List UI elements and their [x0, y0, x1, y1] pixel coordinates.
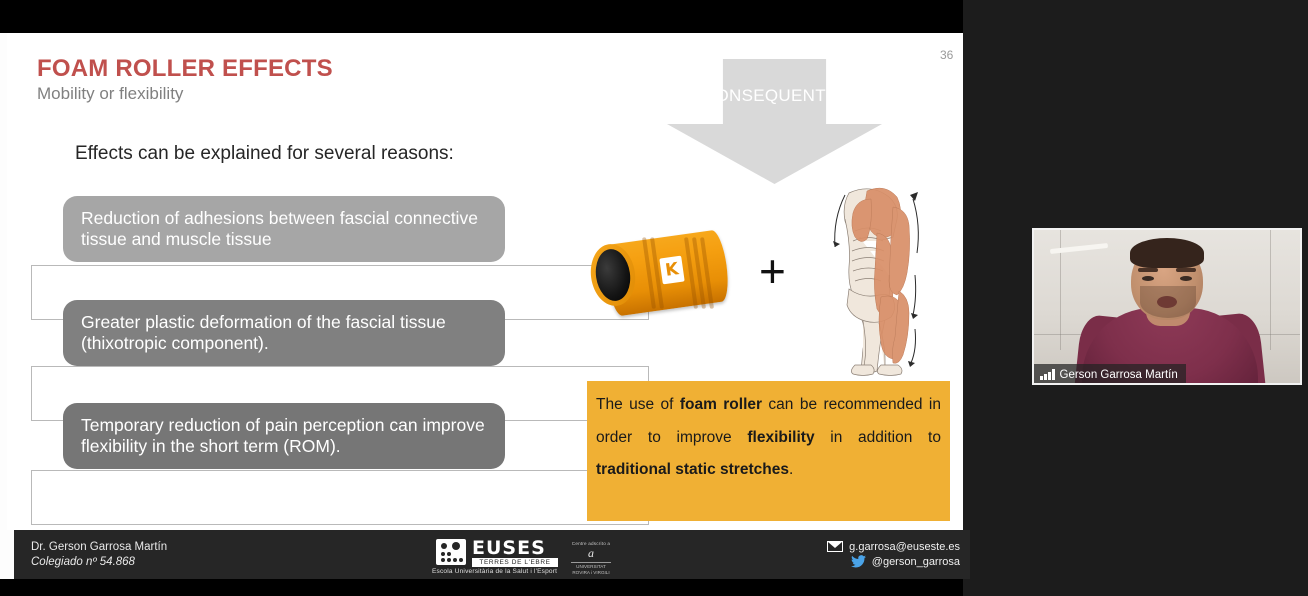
participant-name: Gerson Garrosa Martín: [1060, 369, 1178, 381]
consequently-arrow: CONSEQUENTLY: [667, 59, 882, 184]
urv-mark-icon: a: [568, 546, 614, 561]
down-arrow-icon: [667, 59, 882, 184]
reason-text-2: Greater plastic deformation of the fasci…: [81, 312, 491, 354]
urv-logo: Centre adscrito a a UNIVERSITAT ROVIRA i…: [568, 541, 614, 576]
foam-roller-image: K: [585, 231, 730, 323]
email-row: g.garrosa@euseste.es: [814, 539, 960, 554]
eye-right: [1180, 276, 1192, 281]
letterbox-bottom: [0, 579, 963, 596]
twitter-row: @gerson_garrosa: [814, 554, 960, 569]
person-mouth: [1157, 296, 1177, 308]
consequently-label: CONSEQUENTLY: [667, 86, 882, 106]
slide-footer: Dr. Gerson Garrosa Martín Colegiado nº 5…: [14, 530, 970, 579]
callout-seg-1: foam roller: [680, 396, 762, 413]
person-hair: [1130, 238, 1204, 268]
reason-text-3: Temporary reduction of pain perception c…: [81, 415, 491, 457]
slide-title: FOAM ROLLER EFFECTS: [37, 55, 333, 83]
reason-box-1: Reduction of adhesions between fascial c…: [63, 196, 505, 262]
callout-seg-4: in addition to: [815, 429, 941, 446]
footer-license: Colegiado nº 54.868: [31, 556, 135, 568]
participant-video-tile[interactable]: EUSES Gerson Garrosa Martín: [1032, 228, 1302, 385]
euses-wordmark: EUSES: [472, 537, 546, 559]
urv-divider: [571, 562, 611, 563]
presentation-slide: FOAM ROLLER EFFECTS Mobility or flexibil…: [0, 33, 963, 579]
slide-page-number: 36: [940, 48, 953, 62]
letterbox-top: [0, 0, 963, 33]
callout-box: The use of foam roller can be recommende…: [587, 381, 950, 521]
reason-text-1: Reduction of adhesions between fascial c…: [81, 208, 491, 250]
twitter-icon: [851, 555, 866, 568]
intro-text: Effects can be explained for several rea…: [75, 143, 454, 165]
envelope-icon: [827, 541, 843, 552]
slide-subtitle: Mobility or flexibility: [37, 84, 183, 104]
reason-box-3: Temporary reduction of pain perception c…: [63, 403, 505, 469]
anatomy-svg: [819, 179, 923, 377]
plus-icon: +: [759, 248, 786, 294]
eye-left: [1142, 276, 1154, 281]
callout-seg-3: flexibility: [747, 429, 814, 446]
eyebrow-left: [1138, 268, 1158, 272]
footer-email[interactable]: g.garrosa@euseste.es: [849, 541, 960, 553]
callout-seg-0: The use of: [596, 396, 680, 413]
footer-author: Dr. Gerson Garrosa Martín: [31, 541, 167, 553]
roller-brand-logo: K: [659, 256, 684, 285]
callout-seg-6: .: [789, 461, 793, 478]
euses-mark-icon: [436, 539, 466, 565]
screen-share-view: FOAM ROLLER EFFECTS Mobility or flexibil…: [0, 0, 1308, 596]
connector-rect-3: [31, 470, 649, 525]
euses-tagline: Escola Universitària de la Salut i l'Esp…: [432, 568, 557, 575]
footer-contact: g.garrosa@euseste.es @gerson_garrosa: [814, 539, 960, 569]
urv-bottom-text: UNIVERSITAT ROVIRA i VIRGILI: [568, 564, 614, 576]
eyebrow-right: [1176, 268, 1196, 272]
footer-twitter[interactable]: @gerson_garrosa: [872, 556, 960, 568]
euses-logo: EUSES TERRES DE L'EBRE Escola Università…: [428, 535, 613, 577]
anatomy-figure-image: [819, 179, 923, 377]
callout-seg-5: traditional static stretches: [596, 461, 789, 478]
wall-corner-line: [1270, 230, 1271, 350]
euses-subtitle: TERRES DE L'EBRE: [472, 558, 558, 567]
slide-canvas: FOAM ROLLER EFFECTS Mobility or flexibil…: [7, 33, 963, 530]
participant-name-badge: Gerson Garrosa Martín: [1034, 364, 1186, 385]
reason-box-2: Greater plastic deformation of the fasci…: [63, 300, 505, 366]
signal-bars-icon: [1040, 369, 1055, 380]
